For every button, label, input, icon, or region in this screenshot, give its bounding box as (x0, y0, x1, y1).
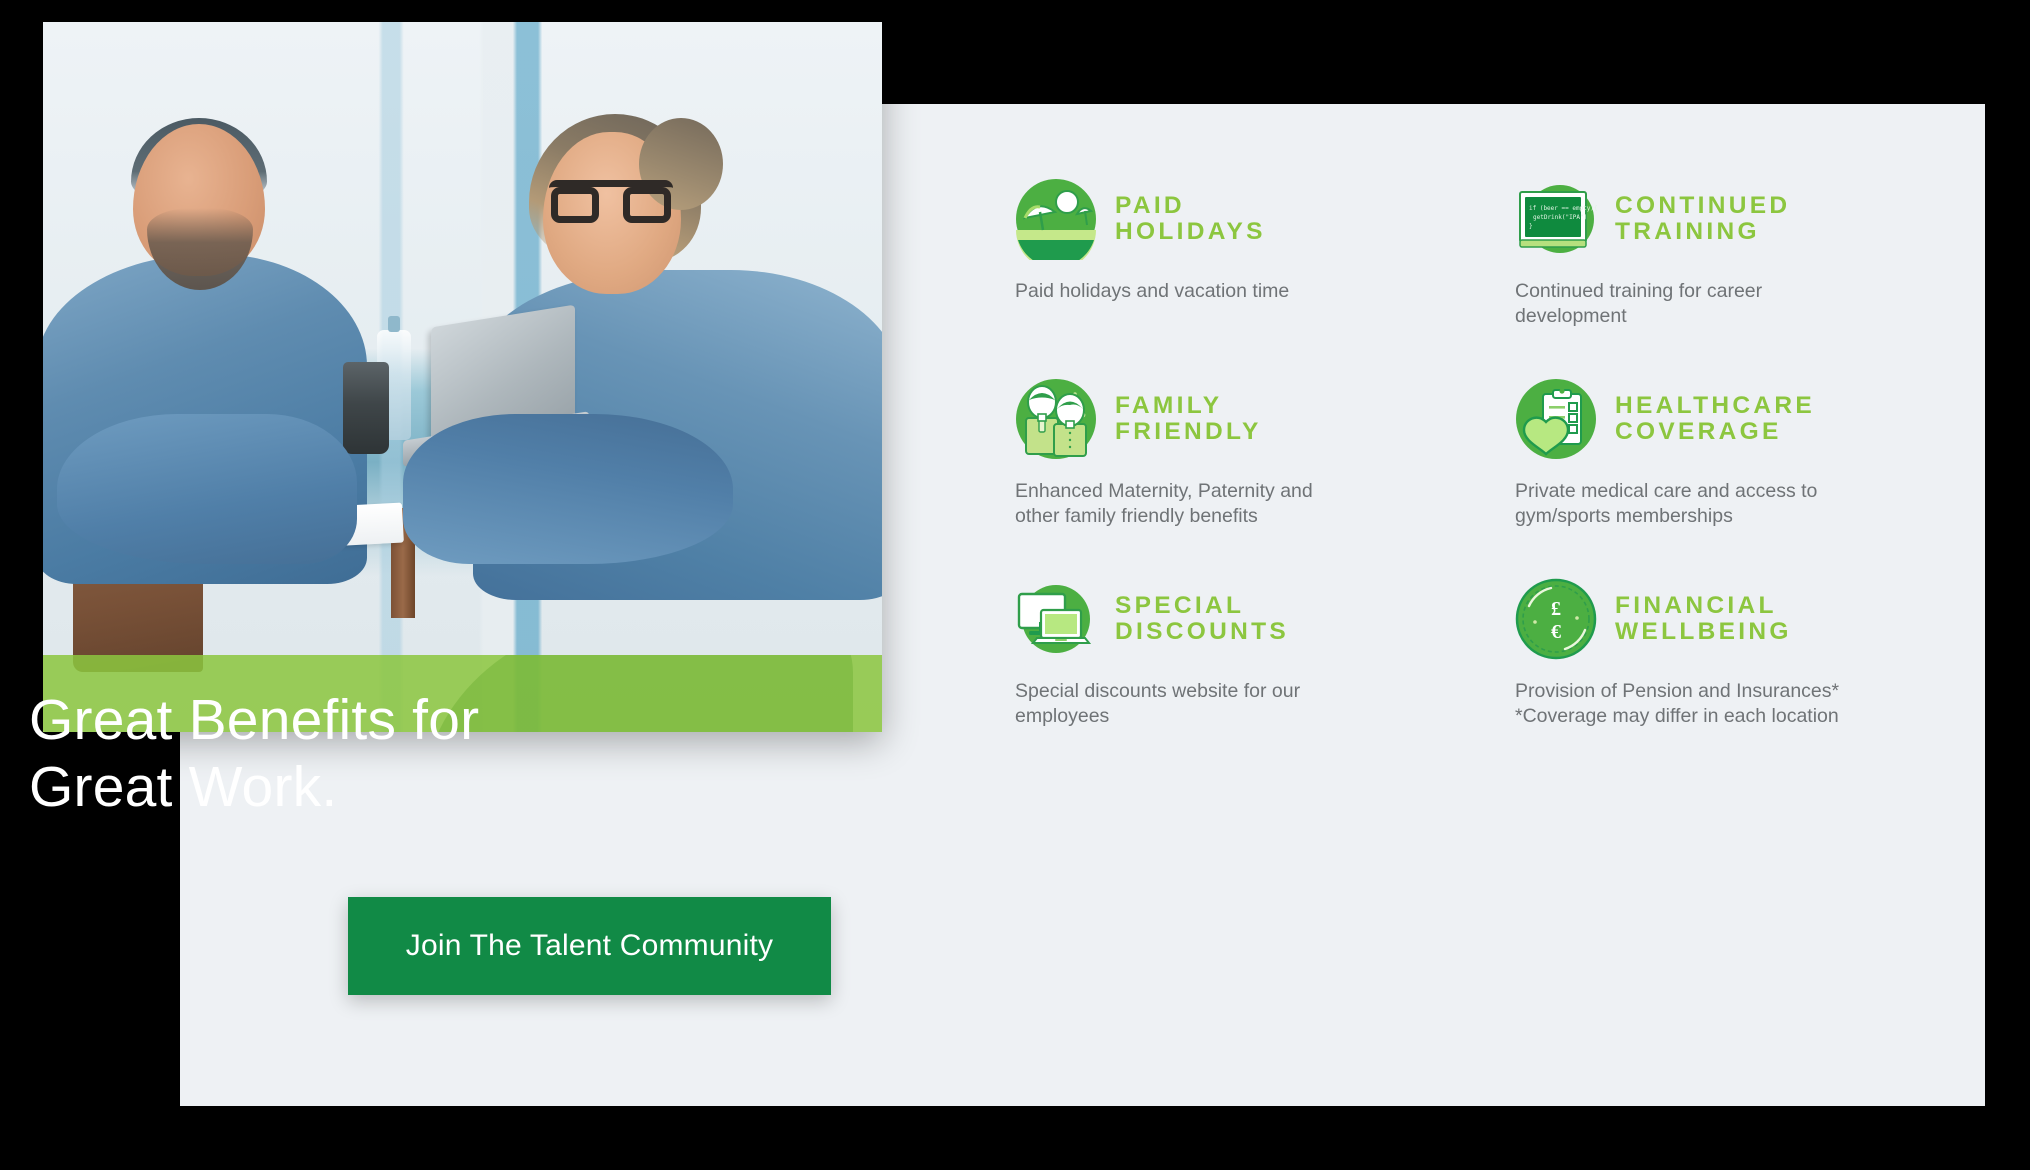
benefit-header: FAMILY FRIENDLY (1015, 365, 1515, 473)
screenshot-stage: PAID HOLIDAYS Paid holidays and vacation… (0, 0, 2030, 1170)
clipboard-heart-icon (1515, 378, 1597, 460)
hero-headline: Great Benefits for Great Work. (29, 687, 729, 822)
benefit-item-continued-training: if (beer == empty){ getDrink("IPA") } CO… (1515, 165, 1915, 365)
benefit-title: FAMILY FRIENDLY (1115, 393, 1262, 444)
benefit-header: £ € FINANCIAL WELLBEING (1515, 565, 1915, 673)
travel-mug (343, 362, 389, 454)
benefit-header: HEALTHCARE COVERAGE (1515, 365, 1915, 473)
benefit-header: PAID HOLIDAYS (1015, 165, 1515, 273)
man-arm (57, 414, 357, 564)
benefit-item-family-friendly: FAMILY FRIENDLY Enhanced Maternity, Pate… (1015, 365, 1515, 565)
beach-landscape-icon (1015, 178, 1097, 260)
benefit-title: CONTINUED TRAINING (1615, 193, 1790, 244)
benefit-item-special-discounts: SPECIAL DISCOUNTS Special discounts webs… (1015, 565, 1515, 765)
svg-text:£: £ (1551, 598, 1561, 620)
svg-text:€: € (1551, 621, 1561, 643)
benefit-description: Enhanced Maternity, Paternity and other … (1015, 473, 1515, 530)
woman-glasses (549, 180, 673, 227)
benefit-title: PAID HOLIDAYS (1115, 193, 1266, 244)
benefit-description: Paid holidays and vacation time (1015, 273, 1515, 304)
join-talent-community-button[interactable]: Join The Talent Community (348, 897, 831, 995)
svg-text:getDrink("IPA"): getDrink("IPA") (1533, 214, 1587, 221)
two-parents-icon (1015, 378, 1097, 460)
benefit-description: Private medical care and access to gym/s… (1515, 473, 1915, 530)
benefit-title: HEALTHCARE COVERAGE (1615, 393, 1815, 444)
svg-text:}: } (1529, 223, 1533, 230)
svg-text:if (beer == empty){: if (beer == empty){ (1529, 205, 1597, 212)
benefit-title: SPECIAL DISCOUNTS (1115, 593, 1289, 644)
benefit-header: SPECIAL DISCOUNTS (1015, 565, 1515, 673)
benefit-description: Provision of Pension and Insurances* *Co… (1515, 673, 1915, 730)
hero-photo-card (43, 22, 882, 732)
woman-arm (403, 414, 733, 564)
chalkboard-code-icon: if (beer == empty){ getDrink("IPA") } (1515, 178, 1597, 260)
benefit-title: FINANCIAL WELLBEING (1615, 593, 1792, 644)
currency-coin-icon: £ € (1515, 578, 1597, 660)
benefit-description: Special discounts website for our employ… (1015, 673, 1515, 730)
benefit-item-healthcare-coverage: HEALTHCARE COVERAGE Private medical care… (1515, 365, 1915, 565)
hero-photograph (43, 22, 882, 732)
benefit-item-paid-holidays: PAID HOLIDAYS Paid holidays and vacation… (1015, 165, 1515, 365)
benefits-grid: PAID HOLIDAYS Paid holidays and vacation… (1015, 165, 1915, 765)
benefit-header: if (beer == empty){ getDrink("IPA") } CO… (1515, 165, 1915, 273)
monitor-laptop-icon (1015, 578, 1097, 660)
benefit-description: Continued training for career developmen… (1515, 273, 1915, 330)
benefit-item-financial-wellbeing: £ € FINANCIAL WELLBEING Provision of Pen… (1515, 565, 1915, 765)
